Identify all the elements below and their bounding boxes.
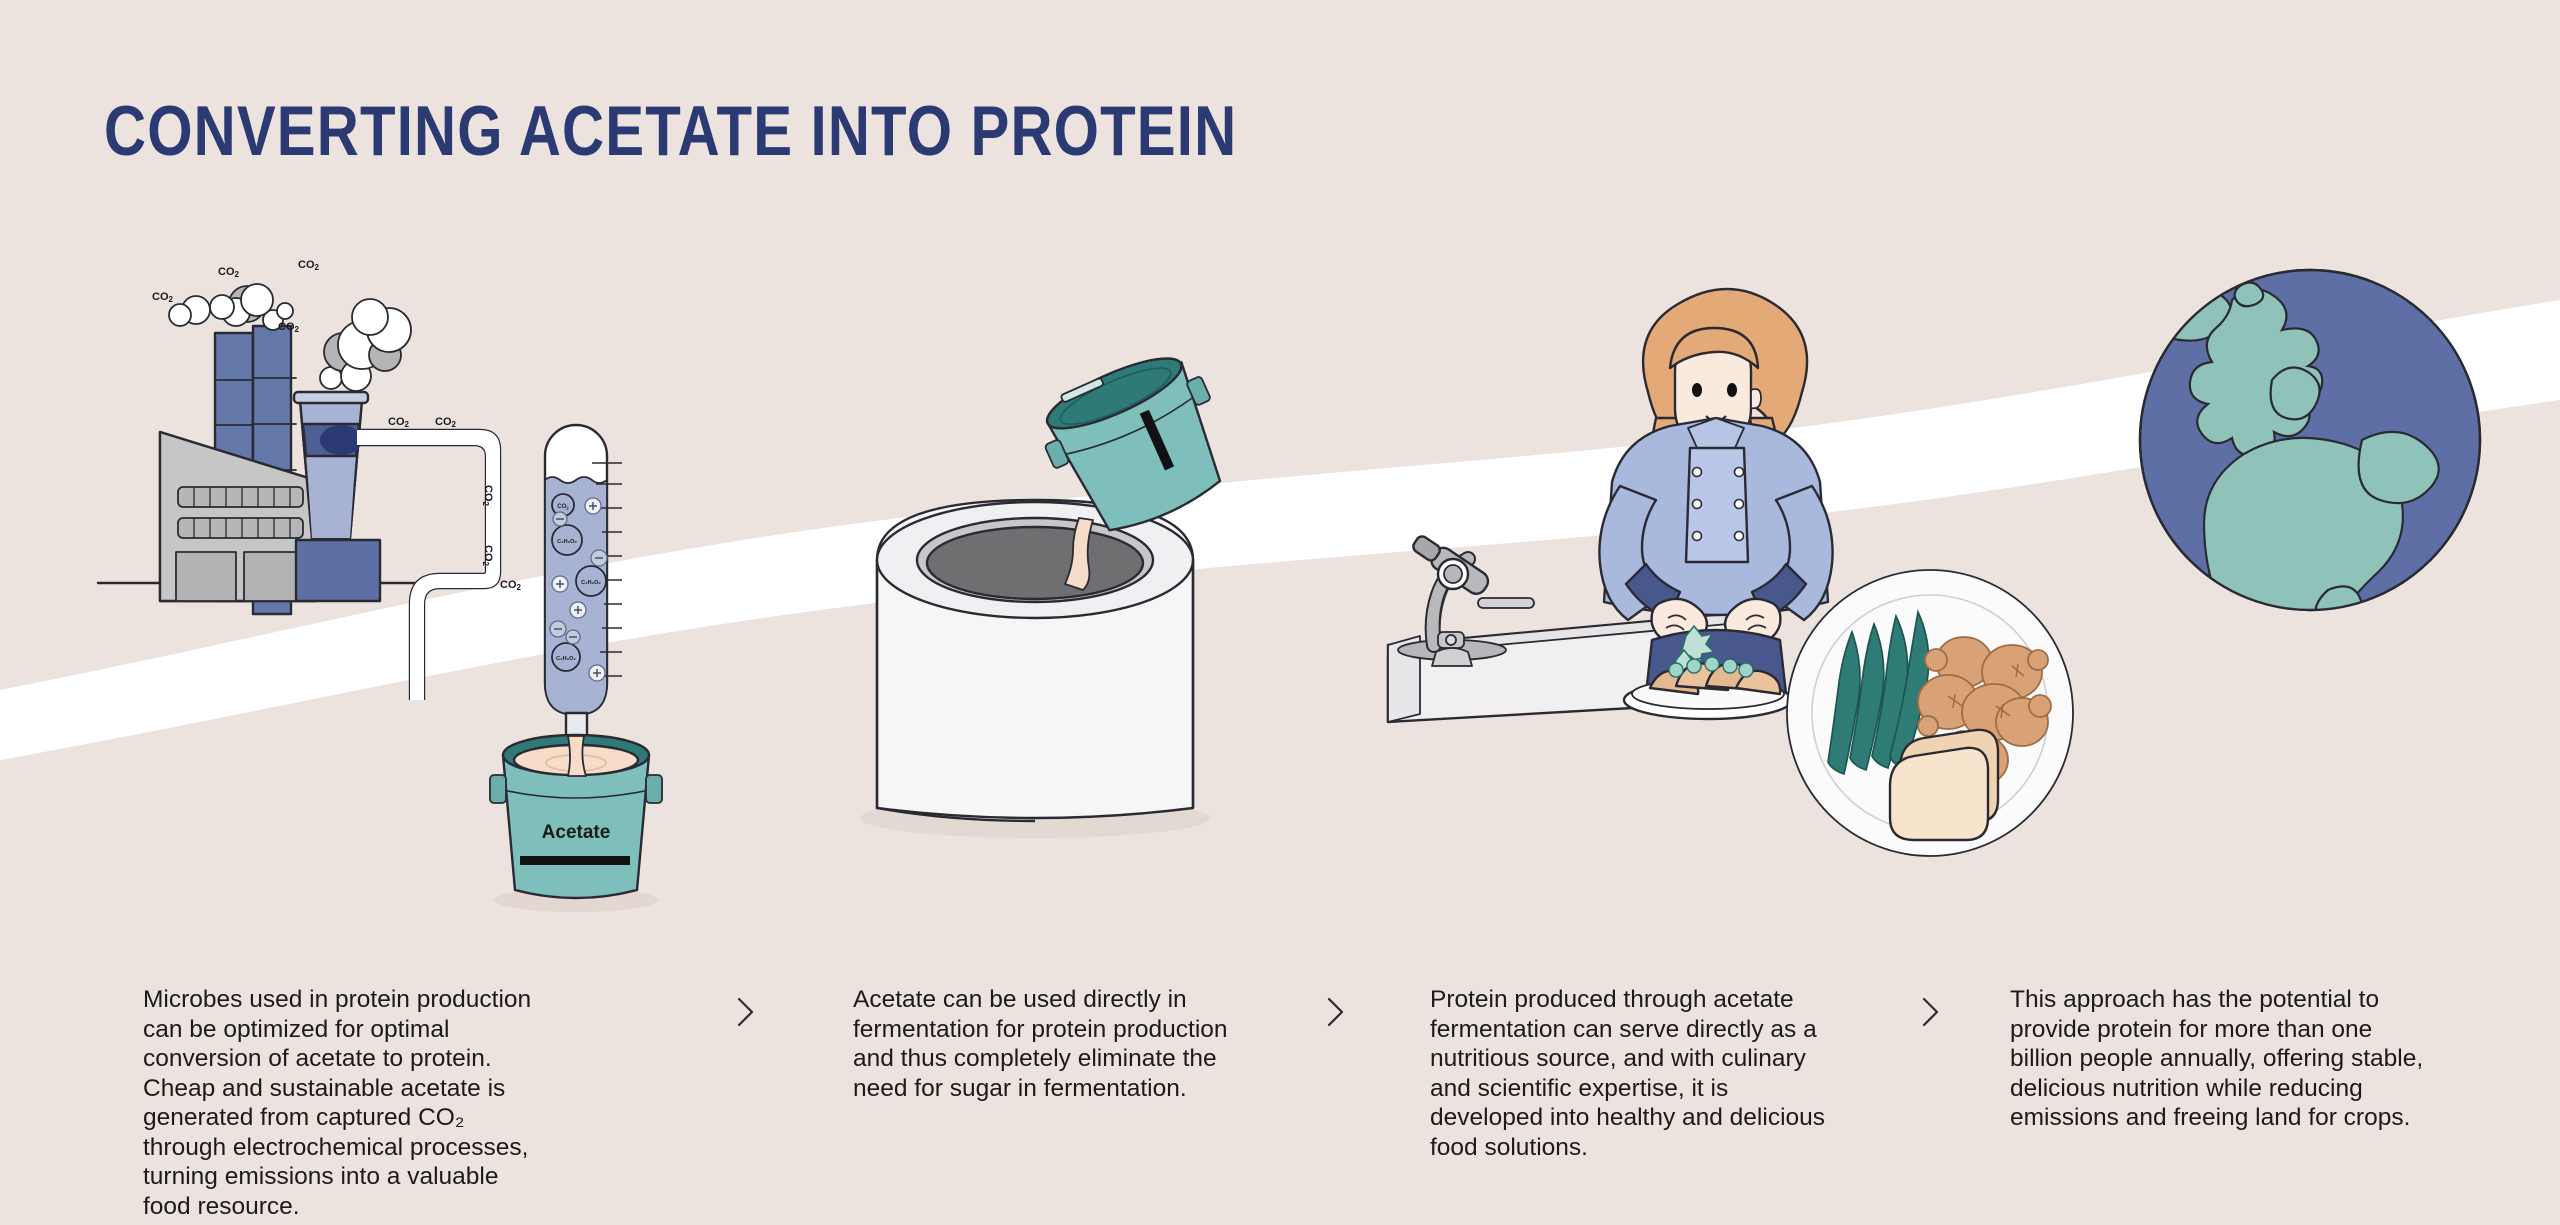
- electrochemical-reactor: CO2 C₂H₃O₂ C₂H₃O₂ C₂H₃O₂: [545, 425, 622, 779]
- food-plate: [1787, 570, 2073, 856]
- fermentation-tank: [860, 500, 1210, 838]
- chevron-right-icon: [730, 992, 760, 1032]
- co2-label: CO2: [298, 259, 320, 272]
- step-caption-2: Acetate can be used directly in fermenta…: [853, 985, 1253, 1103]
- svg-text:CO2: CO2: [557, 504, 569, 511]
- co2-label: CO2: [278, 321, 300, 334]
- co2-label: CO2: [152, 291, 174, 304]
- bread-slices: [1890, 730, 1998, 840]
- svg-text:C₂H₃O₂: C₂H₃O₂: [581, 580, 601, 586]
- infographic-canvas: CONVERTING ACETATE INTO PROTEIN .ol { st…: [0, 0, 2560, 1225]
- co2-pipe: CO2 CO2 CO2 CO2 CO2: [357, 416, 522, 700]
- chevron-right-icon: [1915, 992, 1945, 1032]
- step-caption-3: Protein produced through acetate ferment…: [1430, 985, 1830, 1162]
- acetate-bucket-label: Acetate: [542, 822, 611, 843]
- co2-label: CO2: [218, 266, 240, 279]
- svg-text:C₂H₃O₂: C₂H₃O₂: [557, 539, 577, 545]
- illustration-scene: .ol { stroke:#2a2a33; stroke-width:2.4; …: [0, 0, 2560, 1000]
- step-caption-1: Microbes used in protein production can …: [143, 985, 543, 1221]
- earth-globe: [2098, 270, 2480, 707]
- chevron-right-icon: [1320, 992, 1350, 1032]
- caption-row: Microbes used in protein production can …: [0, 985, 2560, 1185]
- co2-pipe-label: CO2: [500, 579, 522, 592]
- step-caption-4: This approach has the potential to provi…: [2010, 985, 2430, 1133]
- co2-pipe-label: CO2: [388, 416, 410, 429]
- co2-pipe-label: CO2: [435, 416, 457, 429]
- acetate-bucket: Acetate: [490, 735, 662, 912]
- svg-text:C₂H₃O₂: C₂H₃O₂: [556, 656, 576, 662]
